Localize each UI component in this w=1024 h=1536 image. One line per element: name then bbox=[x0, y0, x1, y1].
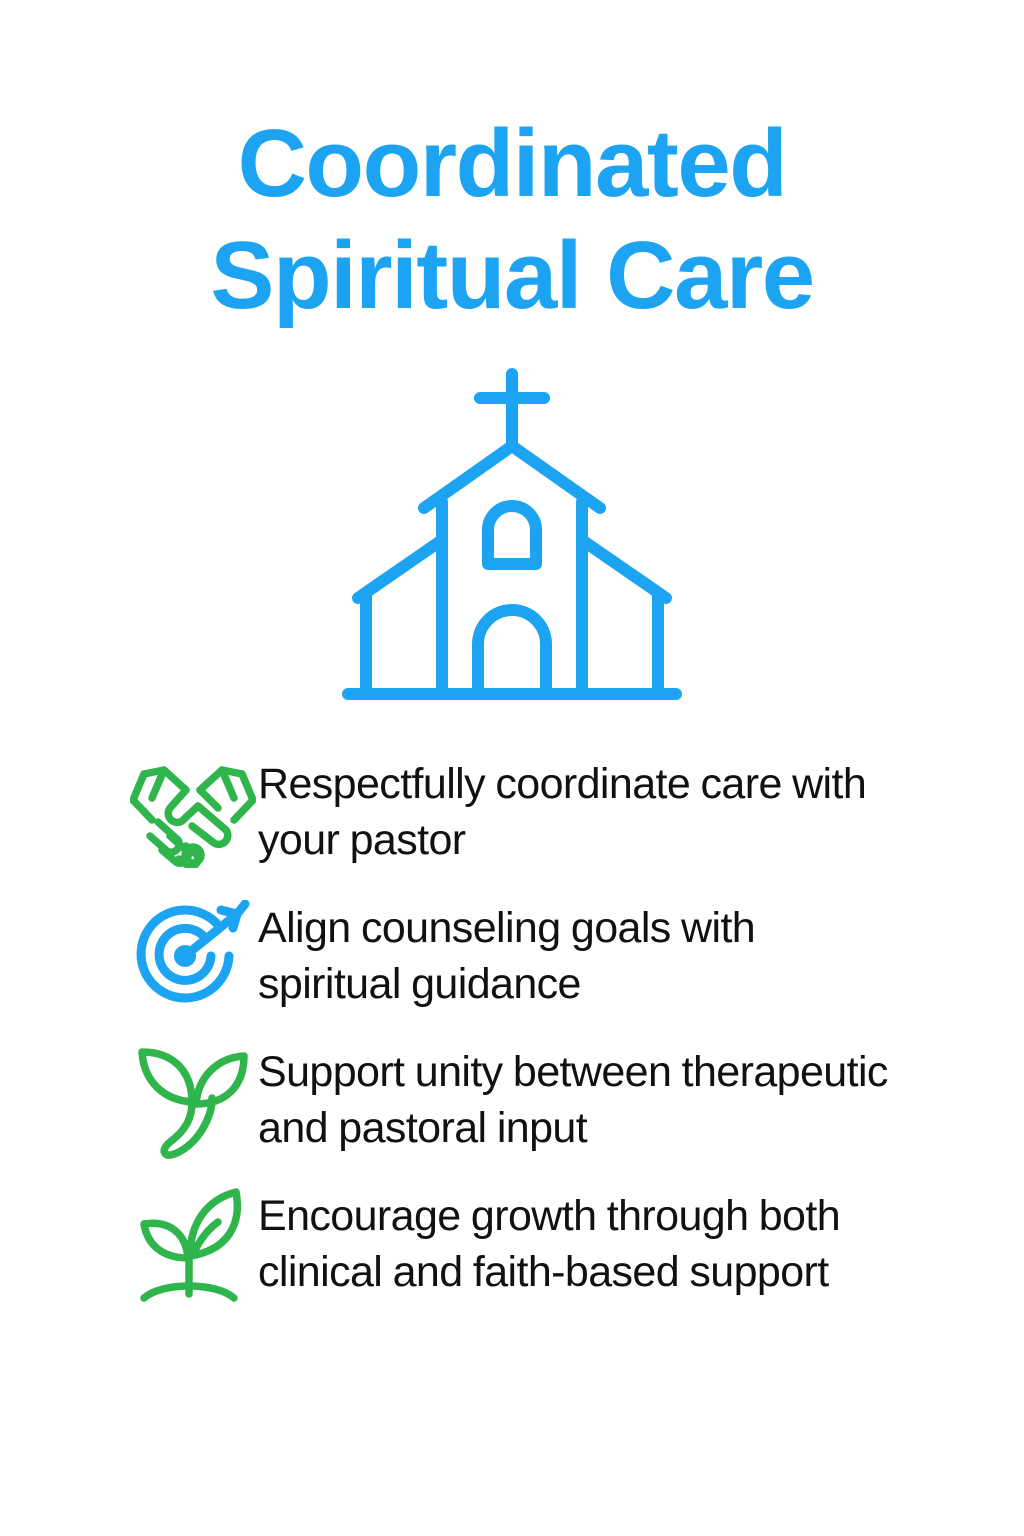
list-item-label: Encourage growth through both clinical a… bbox=[258, 1184, 898, 1300]
church-icon bbox=[338, 362, 686, 706]
feature-list: Respectfully coordinate care with your p… bbox=[0, 752, 1024, 1328]
dove-leaf-icon bbox=[128, 1040, 258, 1158]
infographic-page: Coordinated Spiritual Care bbox=[0, 0, 1024, 1536]
title-line-2: Spiritual Care bbox=[0, 220, 1024, 332]
sprout-icon bbox=[128, 1184, 258, 1302]
list-item: Support unity between therapeutic and pa… bbox=[0, 1040, 1024, 1158]
handshake-icon bbox=[128, 752, 258, 870]
list-item-label: Support unity between therapeutic and pa… bbox=[258, 1040, 898, 1156]
list-item-label: Respectfully coordinate care with your p… bbox=[258, 752, 898, 868]
list-item: Align counseling goals with spiritual gu… bbox=[0, 896, 1024, 1014]
target-arrow-icon bbox=[128, 896, 258, 1014]
title-line-1: Coordinated bbox=[0, 108, 1024, 220]
list-item: Respectfully coordinate care with your p… bbox=[0, 752, 1024, 870]
list-item-label: Align counseling goals with spiritual gu… bbox=[258, 896, 898, 1012]
page-title: Coordinated Spiritual Care bbox=[0, 108, 1024, 332]
list-item: Encourage growth through both clinical a… bbox=[0, 1184, 1024, 1302]
